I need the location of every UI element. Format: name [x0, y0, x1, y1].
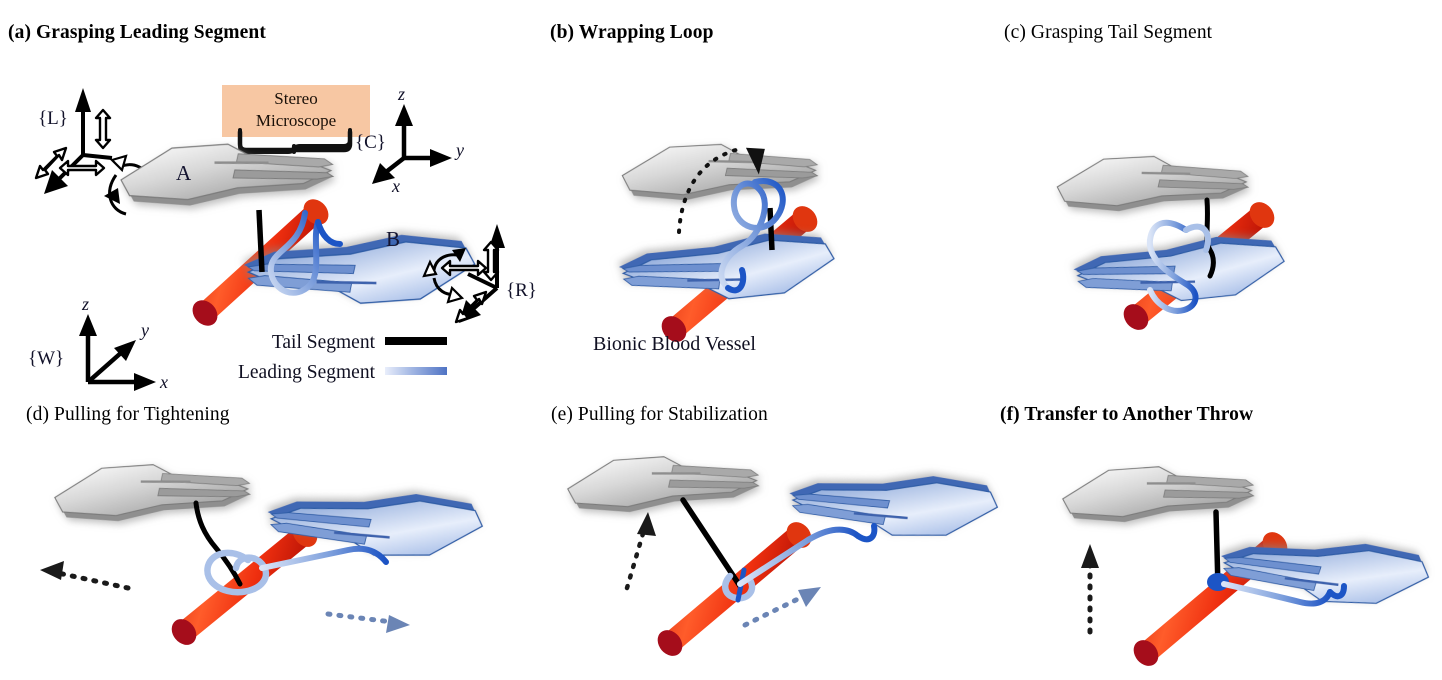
pull-arrow-up-f: [1081, 544, 1099, 632]
tool-gray-d: [54, 461, 251, 523]
frame-label-L: {L}: [38, 108, 68, 129]
pull-arrow-up-right-e: [745, 587, 821, 625]
legend-swatch-leading: [385, 367, 447, 375]
stereo-microscope-box: Stereo Microscope: [222, 85, 370, 152]
camera-axis-y: y: [454, 140, 464, 160]
tail-segment-d: [196, 503, 240, 584]
tool-b-label: B: [386, 227, 400, 251]
bionic-blood-vessel-e: [653, 517, 817, 661]
camera-axis-x: x: [391, 176, 400, 196]
world-axis-z: z: [81, 294, 89, 314]
legend-swatch-tail: [385, 337, 447, 345]
tool-gray-c: [1057, 155, 1249, 212]
pull-arrow-up-left-e: [627, 512, 656, 588]
tool-gray-f: [1062, 463, 1255, 524]
panel-c-artwork: [1057, 155, 1287, 335]
legend-label-tail: Tail Segment: [272, 332, 376, 353]
panel-d-artwork: [40, 461, 483, 650]
tool-a-label: A: [176, 161, 192, 185]
panel-e-artwork: [567, 453, 999, 660]
tail-segment-a: [259, 210, 262, 272]
panel-a-artwork: {L} Stereo Microscope z y x: [28, 84, 537, 392]
tool-gray-b: [622, 143, 818, 202]
figure-root: (a) Grasping Leading Segment (b) Wrappin…: [0, 0, 1442, 680]
tool-blue-c: [1072, 232, 1286, 308]
frame-label-R: {R}: [506, 280, 537, 301]
microscope-label-line2: Microscope: [256, 111, 336, 130]
frame-label-C: {C}: [355, 132, 386, 153]
pull-arrow-right-d: [328, 614, 410, 633]
legend: Tail Segment Leading Segment: [238, 332, 447, 383]
frame-world: z y x {W}: [28, 294, 168, 392]
microscope-label-line1: Stereo: [274, 89, 317, 108]
pull-arrow-left-d: [40, 561, 128, 588]
panel-f-artwork: [1062, 463, 1431, 670]
frame-label-W: {W}: [28, 348, 64, 369]
tail-segment-b: [770, 208, 772, 250]
tool-blue-b: [617, 229, 836, 306]
frame-camera: z y x {C}: [355, 84, 464, 196]
legend-label-leading: Leading Segment: [238, 362, 376, 383]
camera-axis-z: z: [397, 84, 405, 104]
panel-b-artwork: Bionic Blood Vessel: [593, 142, 836, 355]
tool-gray-e: [567, 453, 760, 514]
figure-artwork: {L} Stereo Microscope z y x: [0, 0, 1442, 680]
world-axis-y: y: [139, 320, 149, 340]
bionic-blood-vessel-label: Bionic Blood Vessel: [593, 333, 756, 355]
bionic-blood-vessel-d: [167, 516, 323, 650]
world-axis-x: x: [159, 372, 168, 392]
tool-blue-e: [788, 471, 998, 539]
